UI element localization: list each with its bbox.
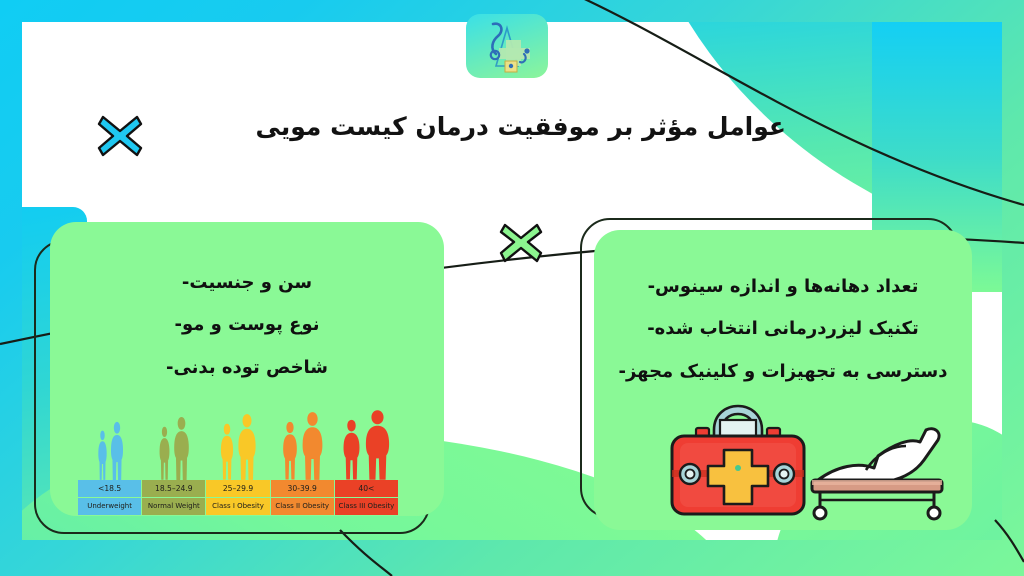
- bmi-label-cell: Normal Weight: [142, 498, 205, 515]
- bmi-label-cell: Class III Obesity: [335, 498, 398, 515]
- bmi-figure-male: [301, 410, 324, 482]
- medical-equipment-illustration: [662, 396, 954, 522]
- card-line: تکنیک لیزردرمانی انتخاب شده-: [594, 308, 972, 350]
- bmi-label-cell: Underweight: [78, 498, 141, 515]
- cross-accent-middle-icon: [497, 220, 545, 270]
- bmi-range-cell: 18.5–24.9: [142, 480, 205, 497]
- bmi-legend-table: <18.5Underweight18.5–24.9Normal Weight25…: [78, 480, 398, 515]
- card-line: تعداد دهانه‌ها و اندازه سینوس-: [594, 266, 972, 308]
- bmi-figure-female: [341, 418, 362, 482]
- card-text-block: سن و جنسیت- نوع پوست و مو- شاخص توده بدن…: [50, 262, 444, 389]
- bmi-figure-female: [219, 422, 235, 482]
- bmi-figure-female: [158, 425, 171, 482]
- card-text-block: تعداد دهانه‌ها و اندازه سینوس- تکنیک لیز…: [594, 266, 972, 393]
- bmi-range-cell: <18.5: [78, 480, 141, 497]
- bmi-figure-group: [270, 402, 334, 482]
- bmi-figure-female: [281, 420, 299, 482]
- bmi-figure-female: [97, 429, 108, 482]
- bmi-figure-male: [364, 408, 391, 482]
- slide-root: عوامل مؤثر بر موفقیت درمان کیست مویی سن …: [0, 0, 1024, 576]
- page-title: عوامل مؤثر بر موفقیت درمان کیست مویی: [226, 108, 786, 146]
- bmi-label-cell: Class I Obesity: [206, 498, 269, 515]
- bmi-figure-male: [110, 420, 124, 482]
- bmi-column: <18.5Underweight: [78, 480, 141, 515]
- bmi-range-cell: 30-39.9: [271, 480, 334, 497]
- bmi-figure-male: [173, 415, 190, 482]
- bmi-column: 40<Class III Obesity: [335, 480, 398, 515]
- patient-factors-card: سن و جنسیت- نوع پوست و مو- شاخص توده بدن…: [34, 222, 444, 534]
- bmi-figure-row: [78, 402, 398, 482]
- card-line: شاخص توده بدنی-: [50, 347, 444, 389]
- first-aid-kit-icon: [672, 406, 804, 514]
- card-line: دسترسی به تجهیزات و کلینیک مجهز-: [594, 351, 972, 393]
- card-line: سن و جنسیت-: [50, 262, 444, 304]
- bmi-label-cell: Class II Obesity: [271, 498, 334, 515]
- clinical-factors-card: تعداد دهانه‌ها و اندازه سینوس- تکنیک لیز…: [580, 218, 972, 536]
- medical-clinic-logo: [466, 14, 548, 78]
- bmi-figure-group: [142, 402, 206, 482]
- card-line: نوع پوست و مو-: [50, 304, 444, 346]
- bmi-column: 30-39.9Class II Obesity: [271, 480, 334, 515]
- bmi-range-cell: 25–29.9: [206, 480, 269, 497]
- bmi-figure-group: [206, 402, 270, 482]
- cross-accent-left-icon: [94, 112, 146, 164]
- bmi-column: 25–29.9Class I Obesity: [206, 480, 269, 515]
- hospital-bed-icon: [812, 429, 942, 519]
- bmi-classification-chart: <18.5Underweight18.5–24.9Normal Weight25…: [78, 402, 398, 520]
- bmi-figure-male: [237, 412, 257, 482]
- bmi-figure-group: [334, 402, 398, 482]
- bmi-figure-group: [78, 402, 142, 482]
- bmi-range-cell: 40<: [335, 480, 398, 497]
- bmi-column: 18.5–24.9Normal Weight: [142, 480, 205, 515]
